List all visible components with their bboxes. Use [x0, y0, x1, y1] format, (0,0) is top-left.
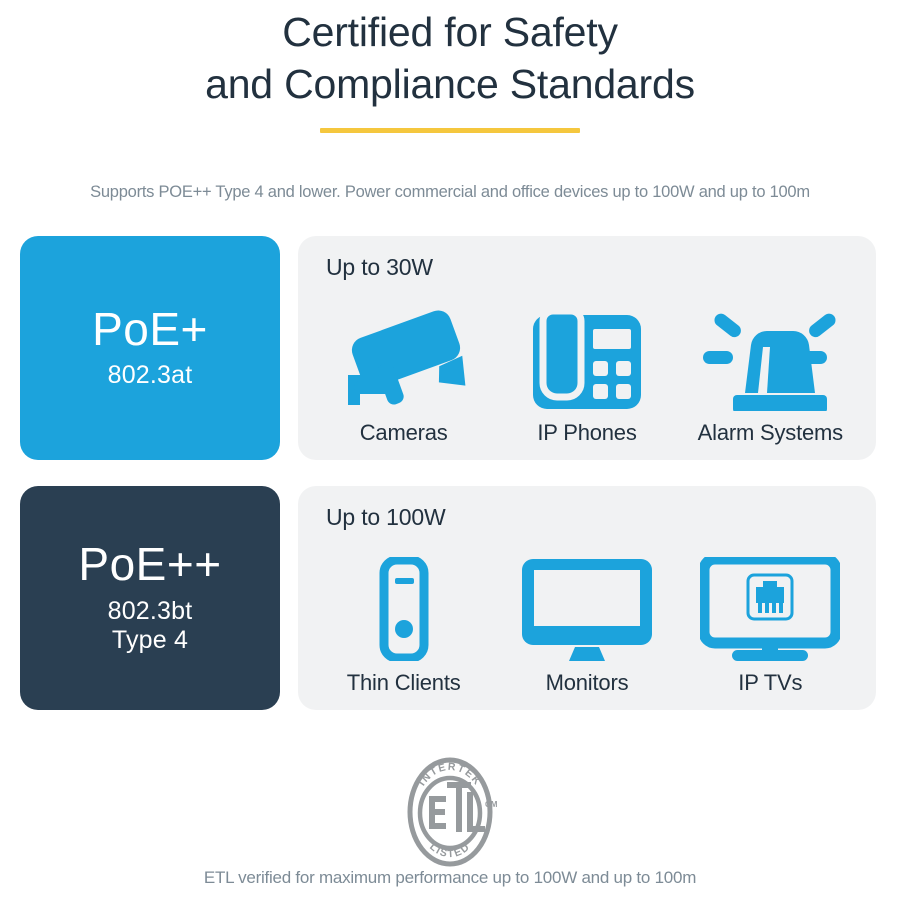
page-title-line-2: and Compliance Standards — [0, 58, 900, 110]
poe-plusplus-standard-line: 802.3bt — [108, 597, 193, 627]
poe-plusplus-badge-card: PoE++ 802.3bt Type 4 — [20, 486, 280, 710]
device-cameras: Cameras — [312, 288, 495, 446]
device-ip-tvs: IP TVs — [679, 538, 862, 696]
device-monitors: Monitors — [495, 538, 678, 696]
poe-plus-badge-card: PoE+ 802.3at — [20, 236, 280, 460]
etl-superscript: CM — [485, 800, 498, 809]
poe-plus-row: PoE+ 802.3at Up to 30W — [20, 236, 876, 460]
poe-plus-badge-title: PoE+ — [92, 305, 208, 353]
poe-plus-device-strip: Cameras IP Phones — [312, 288, 862, 446]
thin-client-tower-icon — [369, 554, 439, 664]
page-title-line-1: Certified for Safety — [0, 6, 900, 58]
poe-plusplus-type-line: Type 4 — [108, 626, 193, 656]
device-label: Monitors — [546, 670, 629, 696]
ip-tv-icon — [700, 554, 840, 664]
poe-plusplus-power-heading: Up to 100W — [326, 504, 862, 531]
infographic-page: Certified for Safety and Compliance Stan… — [0, 0, 900, 900]
page-subtitle: Supports POE++ Type 4 and lower. Power c… — [0, 183, 900, 202]
poe-plusplus-devices-panel: Up to 100W Thin Clients — [298, 486, 876, 710]
alarm-siren-icon — [695, 304, 845, 414]
device-label: Alarm Systems — [698, 420, 843, 446]
certification-logo-wrap: CM INTERTEK LISTED — [0, 756, 900, 868]
device-thin-clients: Thin Clients — [312, 538, 495, 696]
device-alarm-systems: Alarm Systems — [679, 288, 862, 446]
etl-intertek-listed-logo: CM INTERTEK LISTED — [397, 756, 503, 868]
poe-plus-badge-standard: 802.3at — [108, 361, 193, 391]
poe-plusplus-device-strip: Thin Clients Monitors — [312, 538, 862, 696]
device-label: Cameras — [360, 420, 448, 446]
monitor-icon — [520, 554, 654, 664]
poe-plusplus-row: PoE++ 802.3bt Type 4 Up to 100W — [20, 486, 876, 710]
desk-phone-icon — [531, 304, 643, 414]
poe-plusplus-badge-title: PoE++ — [78, 540, 221, 588]
poe-plus-power-heading: Up to 30W — [326, 254, 862, 281]
poe-plusplus-badge-standard: 802.3bt Type 4 — [108, 597, 193, 656]
device-label: Thin Clients — [347, 670, 461, 696]
device-label: IP Phones — [537, 420, 636, 446]
certification-footnote: ETL verified for maximum performance up … — [0, 868, 900, 888]
device-label: IP TVs — [738, 670, 802, 696]
device-ip-phones: IP Phones — [495, 288, 678, 446]
poe-plus-devices-panel: Up to 30W — [298, 236, 876, 460]
security-camera-icon — [340, 304, 468, 414]
title-accent-rule — [320, 128, 580, 133]
page-header: Certified for Safety and Compliance Stan… — [0, 0, 900, 133]
